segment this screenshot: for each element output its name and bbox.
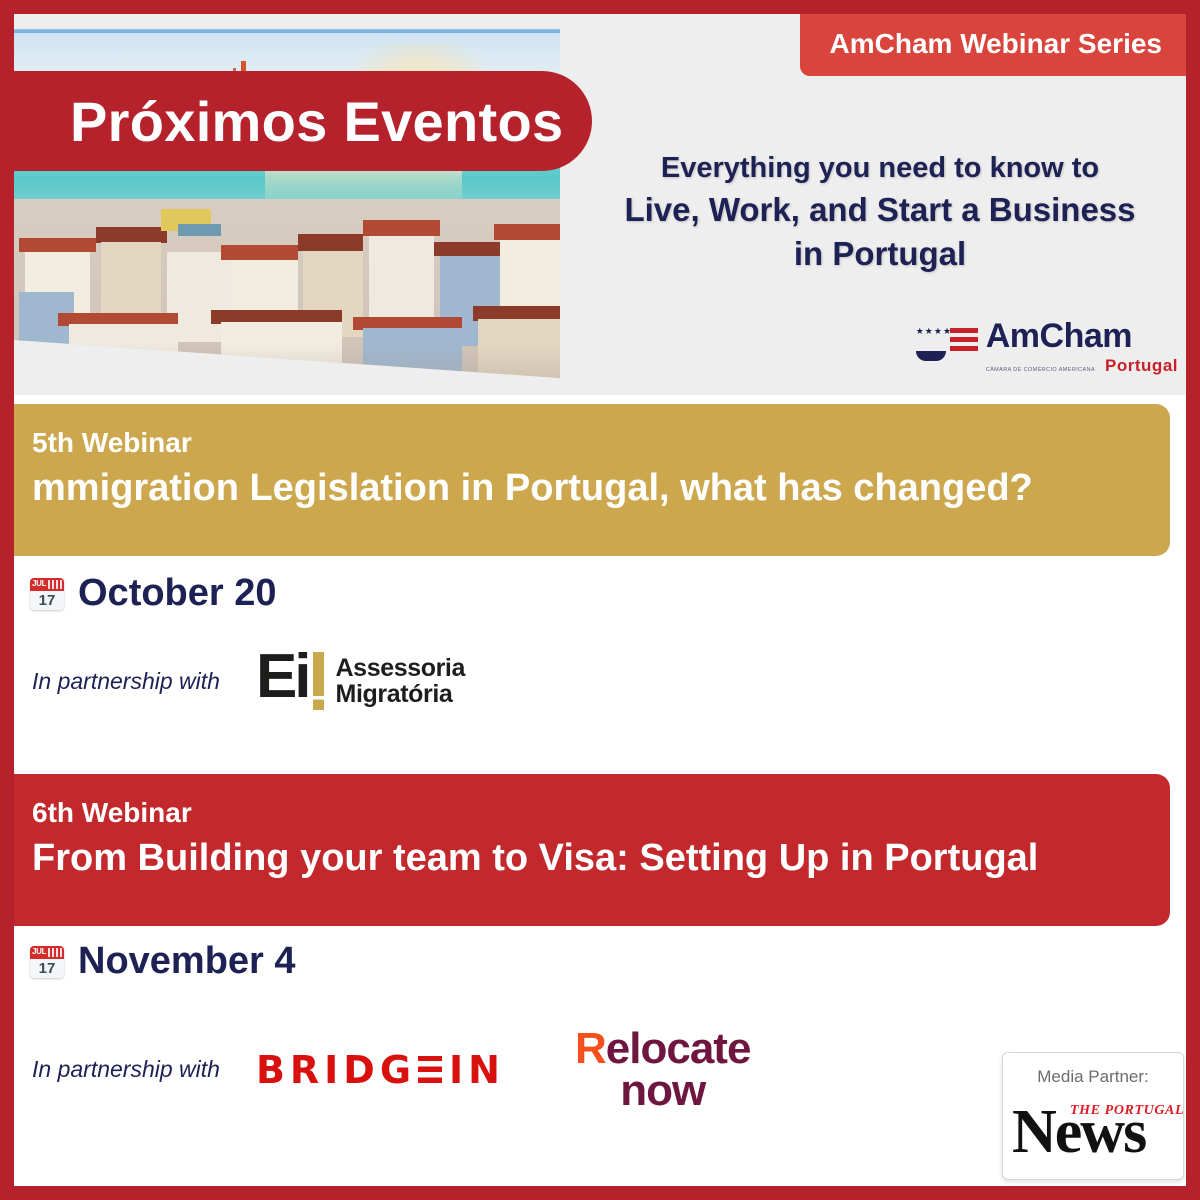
bridge-in-stylized-e [418, 1056, 442, 1083]
amcham-flag-stripe [950, 328, 978, 333]
calendar-icon-month: JUL [32, 947, 46, 956]
webinar-series-label: AmCham Webinar Series [830, 28, 1163, 59]
portugal-news-kicker: THE PORTUGAL [1070, 1103, 1184, 1119]
photo-bottom-fade [14, 344, 560, 379]
frame-border-bottom [0, 1186, 1200, 1200]
amcham-flag-swoop [916, 351, 946, 361]
webinar-kicker: 5th Webinar [32, 428, 1140, 459]
bridge-in-part-2: IN [449, 1048, 505, 1092]
photo-roof [221, 245, 297, 259]
webinar-kicker: 6th Webinar [32, 798, 1140, 829]
hero-headline: Everything you need to know to Live, Wor… [574, 149, 1186, 276]
headline-line-2: Live, Work, and Start a Business [574, 188, 1186, 232]
calendar-icon-day: 17 [30, 591, 64, 610]
relocate-line-1: Relocate [575, 1028, 750, 1070]
ei-word-line-1: Assessoria [336, 655, 465, 681]
frame-border-top [0, 0, 1200, 14]
photo-building [101, 242, 161, 314]
amcham-name: AmCham [986, 319, 1178, 353]
amcham-wordmark: AmCham CÂMARA DE COMÉRCIO AMERICANA Port… [986, 319, 1178, 376]
headline-line-3: in Portugal [574, 232, 1186, 276]
webinar-topic: From Building your team to Visa: Setting… [32, 837, 1140, 881]
amcham-stars: ★★★★ [916, 327, 946, 347]
calendar-icon: JUL 17 [30, 946, 64, 978]
amcham-country: Portugal [1105, 356, 1178, 376]
photo-building [69, 324, 178, 378]
page-title: Próximos Eventos [14, 89, 563, 154]
photo-roof [363, 220, 439, 236]
webinar-band-5th: 5th Webinar mmigration Legislation in Po… [14, 404, 1170, 556]
photo-roof [178, 224, 222, 237]
webinar-series-badge: AmCham Webinar Series [800, 14, 1187, 76]
calendar-icon-month: JUL [32, 579, 46, 588]
webinar-topic: mmigration Legislation in Portugal, what… [32, 467, 1140, 511]
bridge-in-logo: BRIDG IN [256, 1048, 505, 1092]
photo-roof [298, 234, 364, 250]
bridge-in-part-1: BRIDG [256, 1048, 416, 1092]
amcham-flag-stripe [950, 346, 978, 351]
ei-mark: Ei [256, 652, 324, 710]
calendar-icon-day: 17 [30, 959, 64, 978]
poster-title-pill: Próximos Eventos [14, 71, 592, 171]
frame-border-left [0, 0, 14, 1200]
calendar-icon-grid [48, 580, 62, 589]
webinar-band-6th: 6th Webinar From Building your team to V… [14, 774, 1170, 926]
media-partner-card: Media Partner: News THE PORTUGAL [1002, 1052, 1184, 1180]
ei-exclamation-bar [313, 652, 324, 710]
headline-line-1: Everything you need to know to [574, 149, 1186, 188]
photo-roof [494, 224, 560, 240]
partnership-label: In partnership with [32, 1056, 220, 1083]
calendar-icon-grid [48, 948, 62, 957]
amcham-flag-icon: ★★★★ [916, 325, 978, 367]
hero-section: Próximos Eventos AmCham Webinar Series E… [14, 14, 1186, 395]
webinar-date-row-6th: JUL 17 November 4 [30, 940, 296, 983]
ei-wordmark: Assessoria Migratória [336, 655, 465, 707]
photo-building [369, 236, 435, 319]
amcham-flag-stripe [950, 337, 978, 342]
partnership-row-6th: In partnership with BRIDG IN Relocate no… [32, 1028, 750, 1112]
photo-roof [19, 238, 95, 252]
photo-roof [434, 242, 505, 256]
amcham-subrow: CÂMARA DE COMÉRCIO AMERICANA Portugal [986, 356, 1178, 376]
partnership-label: In partnership with [32, 668, 220, 695]
media-partner-label: Media Partner: [1037, 1067, 1149, 1087]
photo-building [19, 292, 74, 378]
partnership-row-5th: In partnership with Ei Assessoria Migrat… [32, 652, 465, 710]
webinar-date: October 20 [78, 572, 277, 615]
the-portugal-news-logo: News THE PORTUGAL [1008, 1097, 1178, 1167]
ei-word-line-2: Migratória [336, 681, 465, 707]
amcham-tagline: CÂMARA DE COMÉRCIO AMERICANA [986, 367, 1095, 373]
relocate-now-logo: Relocate now [575, 1028, 750, 1112]
amcham-portugal-logo: ★★★★ AmCham CÂMARA DE COMÉRCIO AMERICANA… [916, 319, 1178, 376]
ei-assessoria-migratoria-logo: Ei Assessoria Migratória [256, 652, 465, 710]
relocate-initial: R [575, 1024, 606, 1073]
webinar-date: November 4 [78, 940, 296, 983]
webinar-date-row-5th: JUL 17 October 20 [30, 572, 277, 615]
ei-letters: Ei [256, 652, 309, 710]
relocate-line-2: now [575, 1070, 750, 1112]
event-poster: Próximos Eventos AmCham Webinar Series E… [0, 0, 1200, 1200]
calendar-icon: JUL 17 [30, 578, 64, 610]
frame-border-right [1186, 0, 1200, 1200]
